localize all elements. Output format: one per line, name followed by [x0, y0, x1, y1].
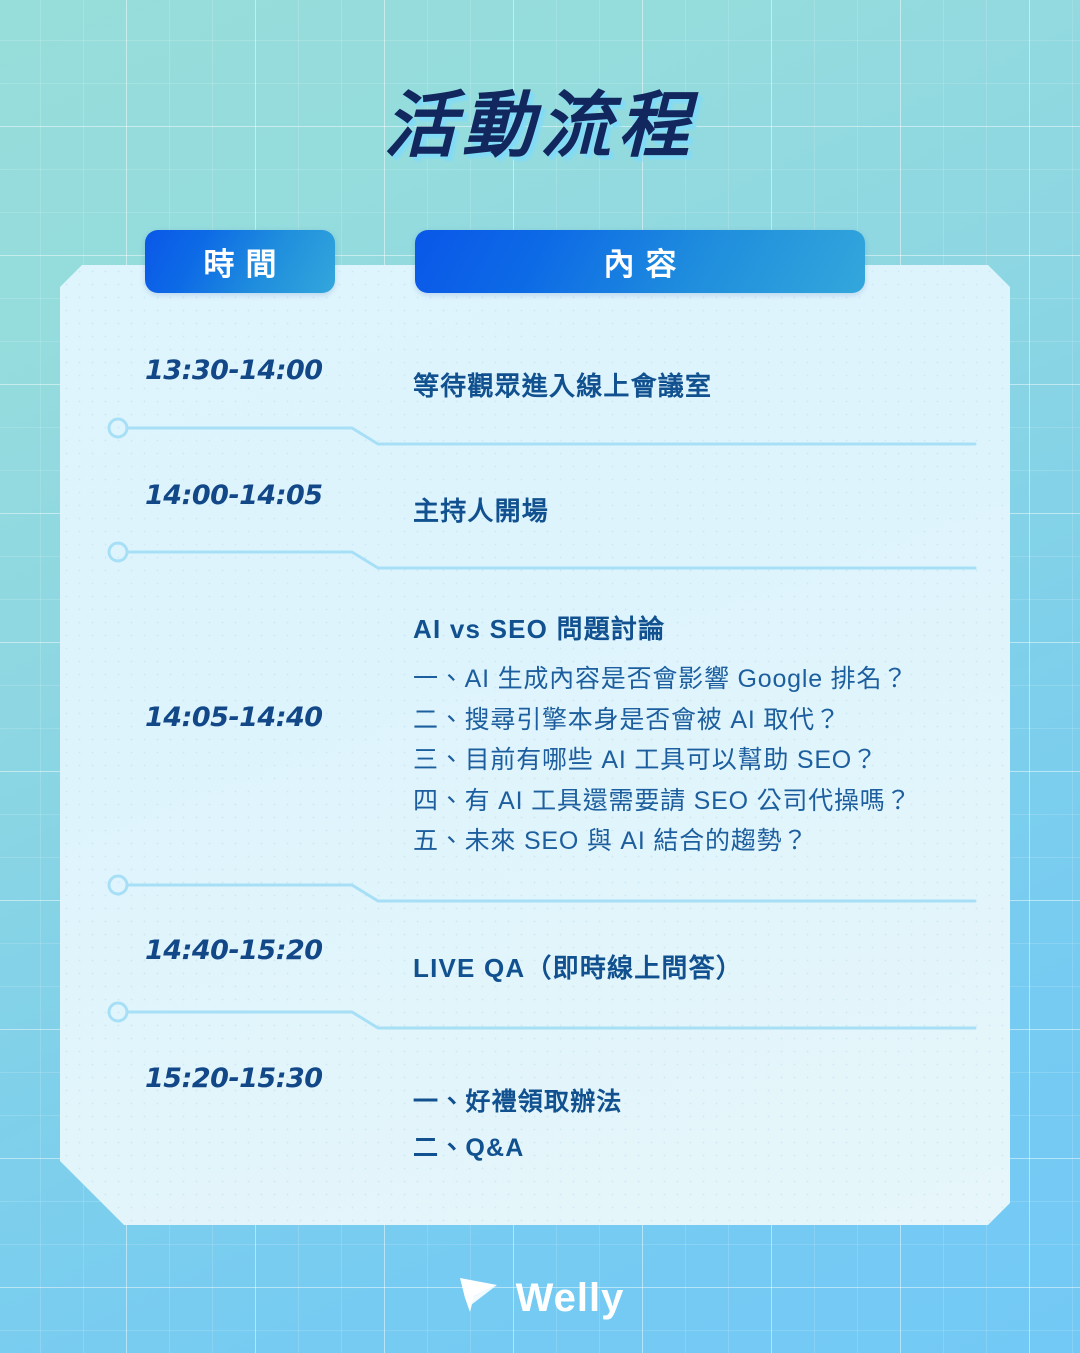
brand-name: Welly	[516, 1278, 625, 1318]
footer-brand: Welly	[0, 1272, 1080, 1323]
page-title-wrap: 活動流程	[0, 86, 1080, 165]
schedule-card	[60, 265, 1010, 1225]
card-dot-texture	[60, 265, 1010, 1225]
header-tab-topic: 內容	[415, 230, 865, 293]
table-headers: 時間 內容	[0, 230, 1080, 293]
paper-plane-icon	[456, 1272, 502, 1323]
page-title: 活動流程	[384, 86, 696, 165]
header-tab-time: 時間	[145, 230, 335, 293]
